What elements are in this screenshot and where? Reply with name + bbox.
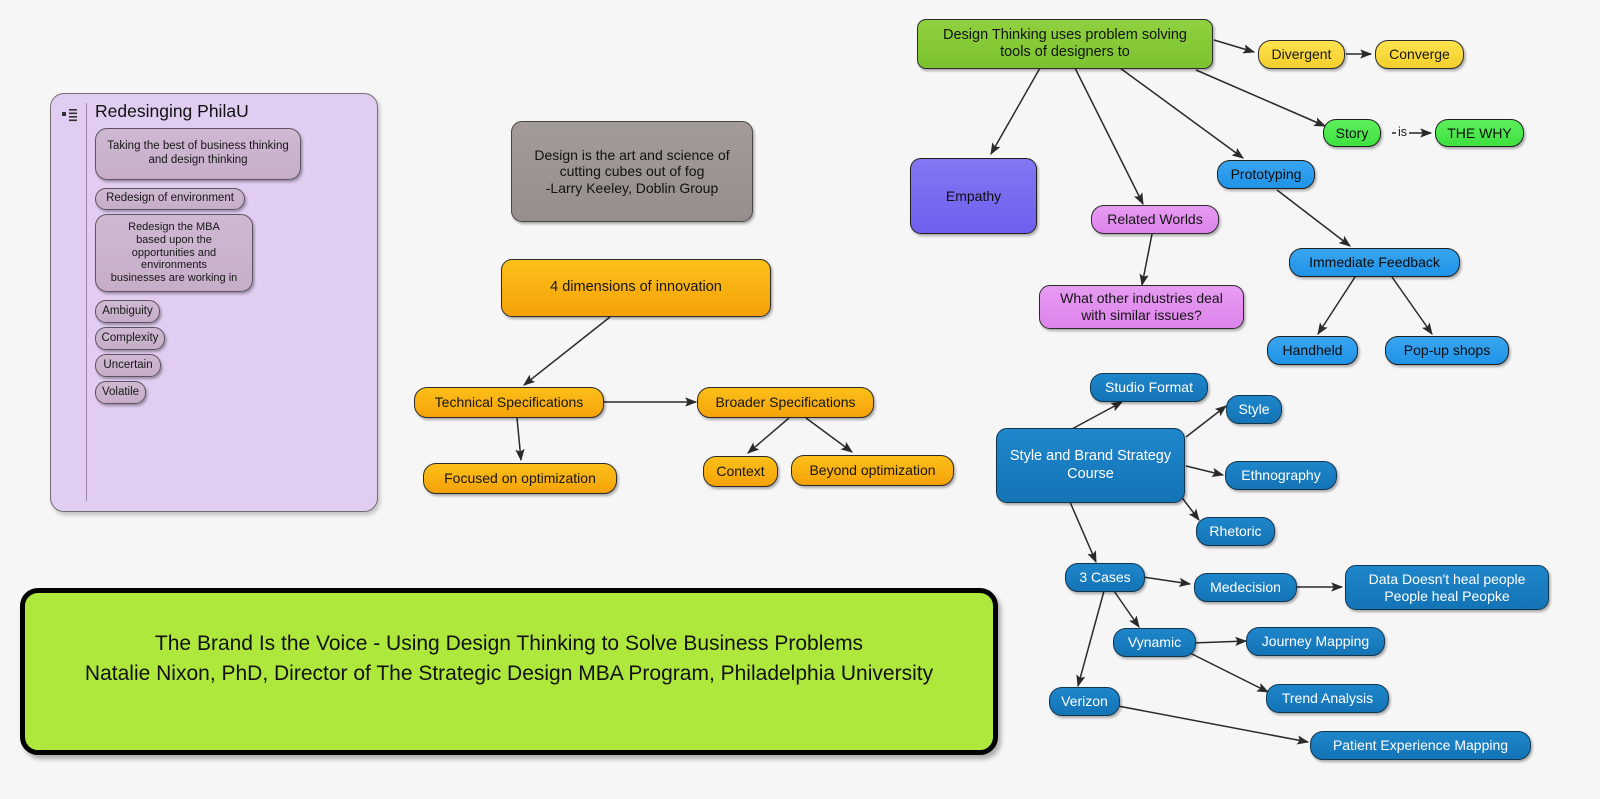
- node-immediate-feedback[interactable]: Immediate Feedback: [1289, 248, 1460, 277]
- panel-title: Redesinging PhilaU: [95, 101, 249, 122]
- title-banner-text: The Brand Is the Voice - Using Design Th…: [85, 629, 933, 689]
- node-prototyping[interactable]: Prototyping: [1217, 160, 1315, 189]
- node-ambiguity[interactable]: Ambiguity: [95, 300, 160, 323]
- node-rhetoric[interactable]: Rhetoric: [1196, 517, 1275, 546]
- node-divergent[interactable]: Divergent: [1258, 40, 1345, 69]
- node-beyond-optimization[interactable]: Beyond optimization: [791, 455, 954, 486]
- node-data-heal-people-quote[interactable]: Data Doesn't heal people People heal Peo…: [1345, 565, 1549, 610]
- node-technical-specifications[interactable]: Technical Specifications: [414, 387, 604, 418]
- node-studio-format[interactable]: Studio Format: [1090, 373, 1208, 402]
- node-design-quote[interactable]: Design is the art and science of cutting…: [511, 121, 753, 222]
- node-empathy[interactable]: Empathy: [910, 158, 1037, 234]
- mindmap-canvas: Redesinging PhilaU Taking the best of bu…: [0, 0, 1600, 799]
- node-patient-experience-mapping[interactable]: Patient Experience Mapping: [1310, 731, 1531, 760]
- node-uncertain[interactable]: Uncertain: [95, 354, 161, 377]
- node-ethnography[interactable]: Ethnography: [1225, 461, 1337, 490]
- node-story[interactable]: Story: [1323, 119, 1381, 147]
- node-converge[interactable]: Converge: [1375, 40, 1464, 69]
- node-redesign-of-environment[interactable]: Redesign of environment: [95, 188, 245, 210]
- node-verizon[interactable]: Verizon: [1049, 687, 1120, 716]
- node-vynamic[interactable]: Vynamic: [1113, 628, 1196, 657]
- node-the-why[interactable]: THE WHY: [1435, 119, 1524, 147]
- node-other-industries[interactable]: What other industries deal with similar …: [1039, 285, 1244, 329]
- node-taking-best-of-thinking[interactable]: Taking the best of business thinking and…: [95, 128, 301, 180]
- node-journey-mapping[interactable]: Journey Mapping: [1246, 627, 1385, 656]
- edge-label-is: is: [1396, 125, 1409, 139]
- title-banner[interactable]: The Brand Is the Voice - Using Design Th…: [20, 588, 998, 755]
- node-design-thinking-root[interactable]: Design Thinking uses problem solving too…: [917, 19, 1213, 69]
- node-context[interactable]: Context: [703, 456, 778, 487]
- panel-divider: [86, 103, 87, 501]
- node-style-brand-strategy-course[interactable]: Style and Brand Strategy Course: [996, 428, 1185, 503]
- node-style[interactable]: Style: [1226, 395, 1282, 424]
- node-broader-specifications[interactable]: Broader Specifications: [697, 387, 874, 418]
- node-3-cases[interactable]: 3 Cases: [1065, 563, 1145, 592]
- node-popup-shops[interactable]: Pop-up shops: [1385, 336, 1509, 365]
- node-complexity[interactable]: Complexity: [95, 327, 165, 350]
- node-medecision[interactable]: Medecision: [1194, 573, 1297, 602]
- node-4-dimensions-of-innovation[interactable]: 4 dimensions of innovation: [501, 259, 771, 317]
- node-related-worlds[interactable]: Related Worlds: [1091, 205, 1219, 234]
- node-trend-analysis[interactable]: Trend Analysis: [1266, 684, 1389, 713]
- node-volatile[interactable]: Volatile: [95, 381, 146, 404]
- node-focused-on-optimization[interactable]: Focused on optimization: [423, 463, 617, 494]
- bullet-list-icon: [62, 108, 78, 122]
- node-redesign-the-mba[interactable]: Redesign the MBA based upon the opportun…: [95, 214, 253, 292]
- node-handheld[interactable]: Handheld: [1267, 336, 1358, 365]
